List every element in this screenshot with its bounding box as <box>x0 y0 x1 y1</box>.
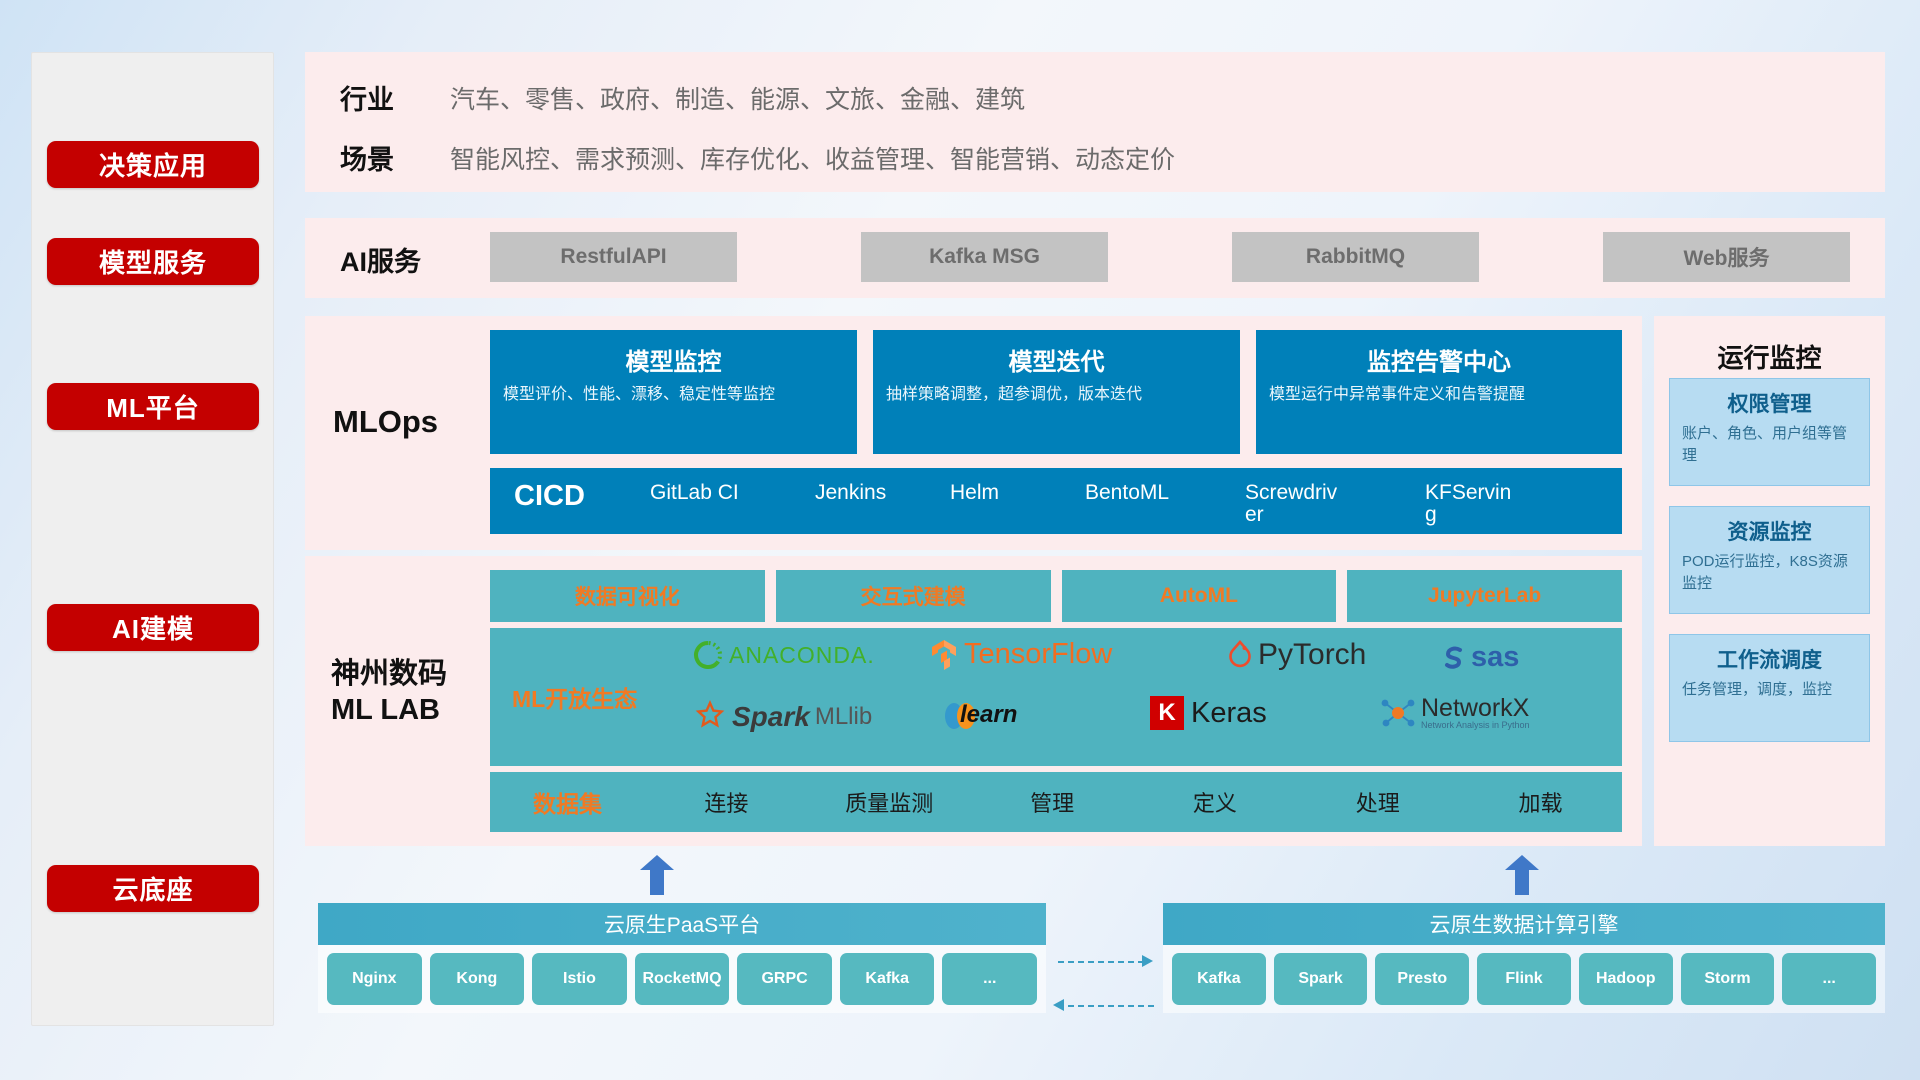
industry-values: 汽车、零售、政府、制造、能源、文旅、金融、建筑 <box>450 80 1025 116</box>
ml-lab-band: 神州数码 ML LAB 数据可视化 交互式建模 AutoML JupyterLa… <box>305 556 1642 846</box>
chip-storm[interactable]: Storm <box>1681 953 1775 1005</box>
cicd-item-screwdriver[interactable]: Screwdriver <box>1245 482 1340 526</box>
rail-item-decision-app[interactable]: 决策应用 <box>47 141 259 188</box>
chip-istio[interactable]: Istio <box>532 953 627 1005</box>
logo-networkx: NetworkX Network Analysis in Python <box>1380 696 1530 730</box>
logo-anaconda-text: ANACONDA. <box>729 642 875 669</box>
diagram-canvas: 决策应用 模型服务 ML平台 AI建模 云底座 行业 汽车、零售、政府、制造、能… <box>0 0 1920 1080</box>
chip-kafka-2[interactable]: Kafka <box>1172 953 1266 1005</box>
cloud-paas-group: 云原生PaaS平台 Nginx Kong Istio RocketMQ GRPC… <box>318 903 1046 1013</box>
mlops-card-model-iteration[interactable]: 模型迭代 抽样策略调整，超参调优，版本迭代 <box>873 330 1240 454</box>
chip-kong[interactable]: Kong <box>430 953 525 1005</box>
chip-grpc[interactable]: GRPC <box>737 953 832 1005</box>
mlops-band: MLOps 模型监控 模型评价、性能、漂移、稳定性等监控 模型迭代 抽样策略调整… <box>305 316 1642 550</box>
scenario-values: 智能风控、需求预测、库存优化、收益管理、智能营销、动态定价 <box>450 140 1175 176</box>
mlops-label: MLOps <box>333 404 438 440</box>
dataset-title: 数据集 <box>490 785 645 819</box>
logo-scikit-learn: learn <box>942 698 1017 732</box>
dataset-item-process[interactable]: 处理 <box>1296 786 1459 818</box>
chip-presto[interactable]: Presto <box>1375 953 1469 1005</box>
logo-sas: sas <box>1440 641 1519 674</box>
ai-service-box-rabbitmq[interactable]: RabbitMQ <box>1232 232 1479 282</box>
industry-row: 行业 汽车、零售、政府、制造、能源、文旅、金融、建筑 <box>340 78 1025 117</box>
ml-lab-label: 神州数码 ML LAB <box>331 656 447 729</box>
monitoring-band: 运行监控 权限管理 账户、角色、用户组等管理 资源监控 POD运行监控，K8S资… <box>1654 316 1885 846</box>
cloud-compute-title: 云原生数据计算引擎 <box>1163 903 1885 945</box>
monitoring-card-title: 权限管理 <box>1670 379 1869 423</box>
mlops-card-title: 监控告警中心 <box>1256 330 1622 383</box>
ai-service-box-web-service[interactable]: Web服务 <box>1603 232 1850 282</box>
ml-ecosystem-panel: ML开放生态 ANACONDA. TensorFlow <box>490 628 1622 766</box>
networkx-icon <box>1380 696 1416 730</box>
logo-spark-mllib: Spark MLlib <box>693 700 872 734</box>
ml-lab-label-line2: ML LAB <box>331 692 447 728</box>
chip-flink[interactable]: Flink <box>1477 953 1571 1005</box>
arrow-up-compute <box>1505 855 1539 895</box>
chip-kafka[interactable]: Kafka <box>840 953 935 1005</box>
mlops-card-model-monitoring[interactable]: 模型监控 模型评价、性能、漂移、稳定性等监控 <box>490 330 857 454</box>
logo-sas-text: sas <box>1471 641 1519 674</box>
cicd-title: CICD <box>514 480 585 513</box>
tensorflow-icon <box>930 639 958 671</box>
rail-item-ml-platform[interactable]: ML平台 <box>47 383 259 430</box>
dataset-strip: 数据集 连接 质量监测 管理 定义 处理 加载 <box>490 772 1622 832</box>
ai-service-box-restfulapi[interactable]: RestfulAPI <box>490 232 737 282</box>
spark-icon <box>693 700 727 734</box>
connector-left-arrowhead <box>1053 999 1064 1011</box>
dataset-item-define[interactable]: 定义 <box>1133 786 1296 818</box>
rail-item-ai-modeling[interactable]: AI建模 <box>47 604 259 651</box>
mlops-card-desc: 模型评价、性能、漂移、稳定性等监控 <box>490 383 857 406</box>
cloud-paas-chips: Nginx Kong Istio RocketMQ GRPC Kafka ... <box>318 945 1046 1013</box>
logo-keras: K Keras <box>1150 696 1267 730</box>
ml-ecosystem-label: ML开放生态 <box>512 680 637 714</box>
lab-tab-automl[interactable]: AutoML <box>1062 570 1337 622</box>
monitoring-card-desc: 账户、角色、用户组等管理 <box>1670 423 1869 477</box>
sas-icon <box>1440 644 1468 672</box>
connector-left <box>1068 1005 1154 1007</box>
logo-mllib-text: MLlib <box>815 703 872 731</box>
monitoring-card-title: 工作流调度 <box>1670 635 1869 679</box>
lab-tab-data-visualization[interactable]: 数据可视化 <box>490 570 765 622</box>
ai-service-band: AI服务 RestfulAPI Kafka MSG RabbitMQ Web服务 <box>305 218 1885 298</box>
left-rail: 决策应用 模型服务 ML平台 AI建模 云底座 <box>31 52 274 1026</box>
industry-label: 行业 <box>340 78 450 117</box>
rail-item-model-service[interactable]: 模型服务 <box>47 238 259 285</box>
monitoring-card-permission[interactable]: 权限管理 账户、角色、用户组等管理 <box>1669 378 1870 486</box>
ml-lab-label-line1: 神州数码 <box>331 656 447 692</box>
chip-more[interactable]: ... <box>942 953 1037 1005</box>
monitoring-card-title: 资源监控 <box>1670 507 1869 551</box>
anaconda-icon <box>693 640 723 670</box>
keras-icon: K <box>1150 696 1184 730</box>
monitoring-card-desc: POD运行监控，K8S资源监控 <box>1670 551 1869 605</box>
dataset-item-load[interactable]: 加载 <box>1459 786 1622 818</box>
logo-tensorflow: TensorFlow <box>930 638 1112 671</box>
dataset-item-connect[interactable]: 连接 <box>645 786 808 818</box>
logo-scikit-learn-text: learn <box>960 701 1017 729</box>
rail-item-cloud-base[interactable]: 云底座 <box>47 865 259 912</box>
connector-right-arrowhead <box>1142 955 1153 967</box>
ai-service-box-kafka-msg[interactable]: Kafka MSG <box>861 232 1108 282</box>
mlops-card-desc: 抽样策略调整，超参调优，版本迭代 <box>873 383 1240 406</box>
cicd-item-helm[interactable]: Helm <box>950 482 1045 504</box>
cicd-item-kfserving[interactable]: KFServing <box>1425 482 1520 526</box>
cicd-strip: CICD GitLab CI Jenkins Helm BentoML Scre… <box>490 468 1622 534</box>
application-layer-band: 行业 汽车、零售、政府、制造、能源、文旅、金融、建筑 场景 智能风控、需求预测、… <box>305 52 1885 192</box>
logo-pytorch-text: PyTorch <box>1258 638 1366 672</box>
cloud-compute-chips: Kafka Spark Presto Flink Hadoop Storm ..… <box>1163 945 1885 1013</box>
logo-keras-text: Keras <box>1191 697 1267 730</box>
ml-lab-tabs: 数据可视化 交互式建模 AutoML JupyterLab <box>490 570 1622 622</box>
ai-service-label: AI服务 <box>340 240 421 279</box>
monitoring-title: 运行监控 <box>1654 338 1885 375</box>
monitoring-card-workflow[interactable]: 工作流调度 任务管理，调度，监控 <box>1669 634 1870 742</box>
logo-tensorflow-text: TensorFlow <box>964 638 1112 671</box>
chip-nginx[interactable]: Nginx <box>327 953 422 1005</box>
monitoring-card-desc: 任务管理，调度，监控 <box>1670 679 1869 711</box>
monitoring-card-resource[interactable]: 资源监控 POD运行监控，K8S资源监控 <box>1669 506 1870 614</box>
scenario-label: 场景 <box>340 138 450 177</box>
logo-networkx-subtext: Network Analysis in Python <box>1421 721 1530 730</box>
logo-spark-text: Spark <box>732 701 810 733</box>
scenario-row: 场景 智能风控、需求预测、库存优化、收益管理、智能营销、动态定价 <box>340 138 1175 177</box>
dataset-item-manage[interactable]: 管理 <box>971 786 1134 818</box>
chip-more-2[interactable]: ... <box>1782 953 1876 1005</box>
chip-rocketmq[interactable]: RocketMQ <box>635 953 730 1005</box>
logo-anaconda: ANACONDA. <box>693 640 875 670</box>
chip-spark[interactable]: Spark <box>1274 953 1368 1005</box>
cicd-item-gitlab-ci[interactable]: GitLab CI <box>650 482 745 504</box>
arrow-up-paas <box>640 855 674 895</box>
mlops-card-desc: 模型运行中异常事件定义和告警提醒 <box>1256 383 1622 406</box>
lab-tab-jupyterlab[interactable]: JupyterLab <box>1347 570 1622 622</box>
dataset-item-quality[interactable]: 质量监测 <box>808 786 971 818</box>
cloud-compute-group: 云原生数据计算引擎 Kafka Spark Presto Flink Hadoo… <box>1163 903 1885 1013</box>
mlops-card-title: 模型监控 <box>490 330 857 383</box>
cicd-item-bentoml[interactable]: BentoML <box>1085 482 1180 504</box>
chip-hadoop[interactable]: Hadoop <box>1579 953 1673 1005</box>
mlops-card-title: 模型迭代 <box>873 330 1240 383</box>
logo-networkx-text: NetworkX <box>1421 696 1530 721</box>
mlops-card-alert-center[interactable]: 监控告警中心 模型运行中异常事件定义和告警提醒 <box>1256 330 1622 454</box>
logo-pytorch: PyTorch <box>1227 638 1366 672</box>
connector-right <box>1058 961 1144 963</box>
cloud-paas-title: 云原生PaaS平台 <box>318 903 1046 945</box>
pytorch-icon <box>1227 640 1253 670</box>
cicd-item-jenkins[interactable]: Jenkins <box>815 482 910 504</box>
lab-tab-interactive-modeling[interactable]: 交互式建模 <box>776 570 1051 622</box>
